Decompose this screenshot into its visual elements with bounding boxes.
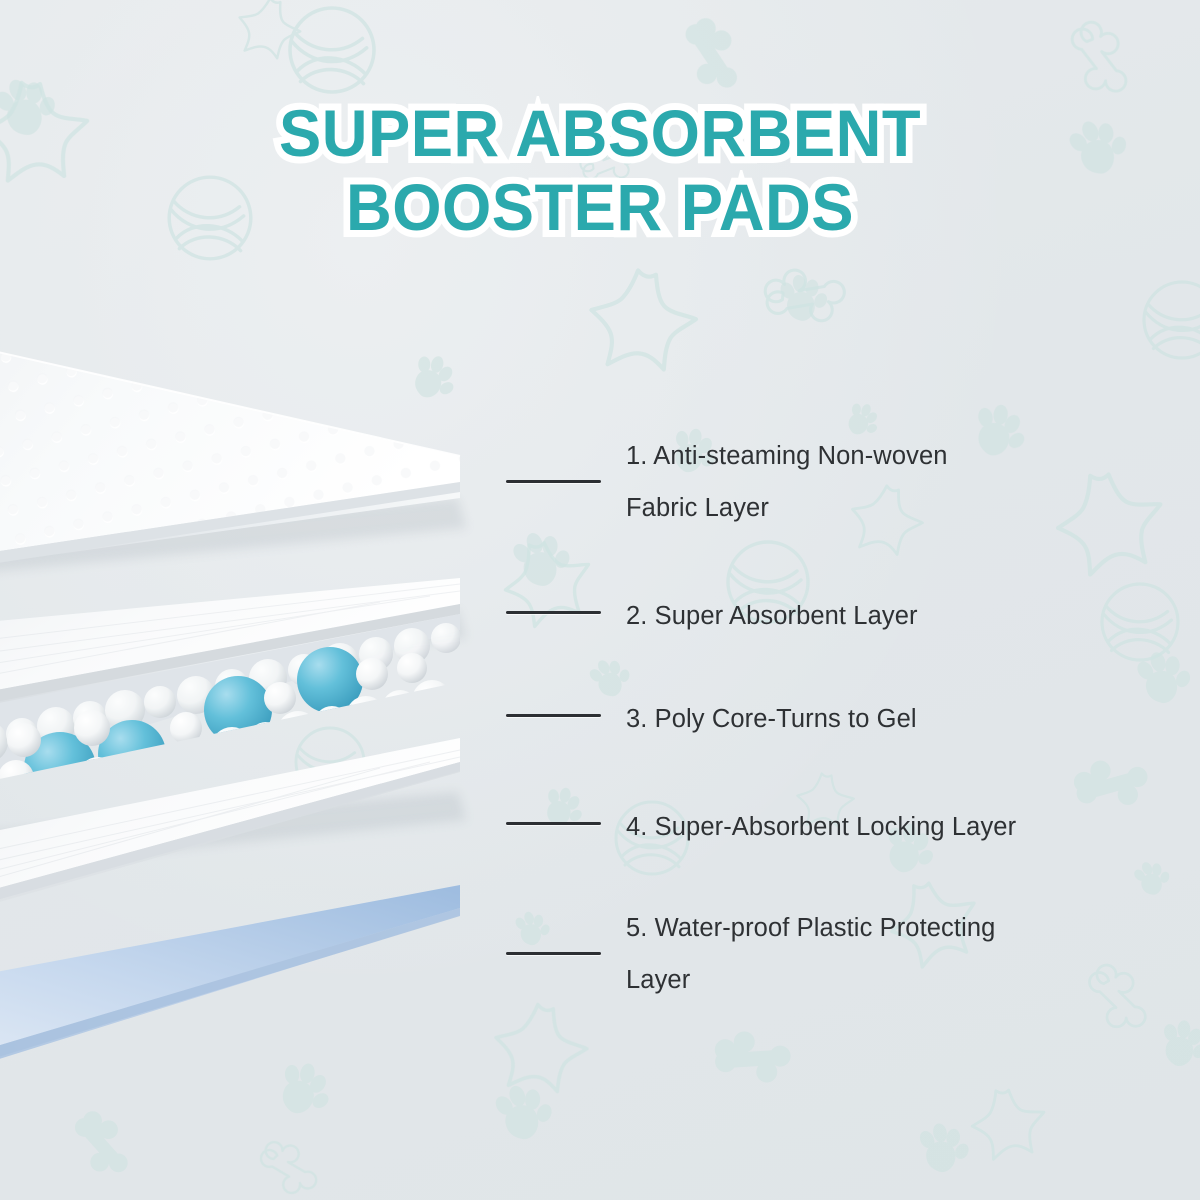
callout-label-3: 3. Poly Core-Turns to Gel bbox=[626, 693, 917, 745]
callout-label-4: 4. Super-Absorbent Locking Layer bbox=[626, 801, 1016, 853]
page-title: SUPER ABSORBENT BOOSTER PADS bbox=[0, 96, 1200, 244]
callout-layer-2: 2. Super Absorbent Layer bbox=[506, 590, 918, 642]
callout-layer-1: 1. Anti-steaming Non-woven Fabric Layer bbox=[506, 430, 948, 534]
callout-layer-4: 4. Super-Absorbent Locking Layer bbox=[506, 801, 1016, 853]
callout-layer-3: 3. Poly Core-Turns to Gel bbox=[506, 693, 917, 745]
callout-label-1: 1. Anti-steaming Non-woven Fabric Layer bbox=[626, 430, 948, 534]
leader-line-1 bbox=[506, 480, 601, 483]
callout-label-5: 5. Water-proof Plastic Protecting Layer bbox=[626, 902, 995, 1006]
title-line-1: SUPER ABSORBENT bbox=[24, 96, 1176, 170]
leader-line-2 bbox=[506, 611, 601, 614]
title-line-2: BOOSTER PADS bbox=[24, 170, 1176, 244]
leader-line-3 bbox=[506, 714, 601, 717]
layer-5-waterproof-sheet bbox=[0, 885, 460, 1090]
poster-root: SUPER ABSORBENT BOOSTER PADS 1. Anti-ste… bbox=[0, 0, 1200, 1200]
leader-line-5 bbox=[506, 952, 601, 955]
callout-label-2: 2. Super Absorbent Layer bbox=[626, 590, 918, 642]
pad-layer-stack-illustration bbox=[0, 330, 520, 1130]
callout-layer-5: 5. Water-proof Plastic Protecting Layer bbox=[506, 902, 995, 1006]
leader-line-4 bbox=[506, 822, 601, 825]
